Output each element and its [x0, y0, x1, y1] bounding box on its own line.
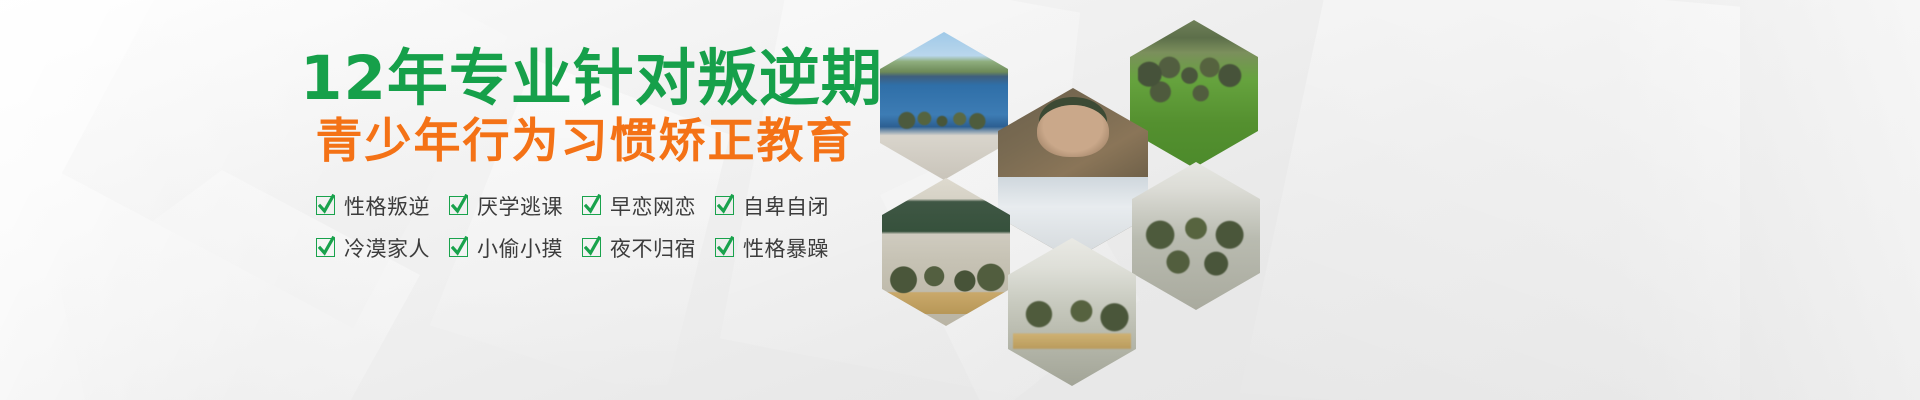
photo-classroom-rows — [1008, 238, 1136, 386]
checkbox-checked-icon — [449, 238, 468, 257]
feature-label: 性格暴躁 — [743, 233, 829, 263]
feature-item: 小偷小摸 — [449, 233, 582, 263]
checkbox-checked-icon — [582, 196, 601, 215]
photo-collage — [880, 10, 1300, 390]
feature-label: 厌学逃课 — [477, 191, 563, 221]
checkbox-checked-icon — [316, 196, 335, 215]
checkbox-checked-icon — [582, 238, 601, 257]
photo-group-on-grass — [1130, 20, 1258, 168]
checkbox-checked-icon — [715, 238, 734, 257]
feature-label: 早恋网恋 — [610, 191, 696, 221]
feature-label: 小偷小摸 — [477, 233, 563, 263]
photo-student-reading — [998, 88, 1148, 260]
checkbox-checked-icon — [715, 196, 734, 215]
promo-banner: 12年专业针对叛逆期 青少年行为习惯矫正教育 性格叛逆 厌学逃课 — [0, 0, 1920, 400]
photo-classroom-blackboard — [882, 178, 1010, 326]
banner-subheadline: 青少年行为习惯矫正教育 — [300, 117, 870, 166]
bg-facet — [1240, 0, 1740, 400]
feature-item: 自卑自闭 — [715, 191, 848, 221]
feature-item: 性格叛逆 — [316, 191, 449, 221]
feature-item: 早恋网恋 — [582, 191, 715, 221]
bg-facet — [1620, 0, 1920, 400]
feature-checklist: 性格叛逆 厌学逃课 早恋网恋 — [300, 191, 870, 263]
checkbox-checked-icon — [449, 196, 468, 215]
feature-item: 夜不归宿 — [582, 233, 715, 263]
feature-item: 厌学逃课 — [449, 191, 582, 221]
feature-label: 夜不归宿 — [610, 233, 696, 263]
feature-row: 冷漠家人 小偷小摸 夜不归宿 — [316, 233, 870, 263]
feature-label: 自卑自闭 — [743, 191, 829, 221]
checkbox-checked-icon — [316, 238, 335, 257]
banner-text-block: 12年专业针对叛逆期 青少年行为习惯矫正教育 性格叛逆 厌学逃课 — [300, 48, 870, 263]
feature-label: 冷漠家人 — [344, 233, 430, 263]
banner-headline: 12年专业针对叛逆期 — [300, 48, 870, 110]
photo-marching-formation — [880, 32, 1008, 180]
feature-item: 性格暴躁 — [715, 233, 848, 263]
feature-item: 冷漠家人 — [316, 233, 449, 263]
feature-row: 性格叛逆 厌学逃课 早恋网恋 — [316, 191, 870, 221]
photo-students-at-desks — [1132, 162, 1260, 310]
feature-label: 性格叛逆 — [344, 191, 430, 221]
